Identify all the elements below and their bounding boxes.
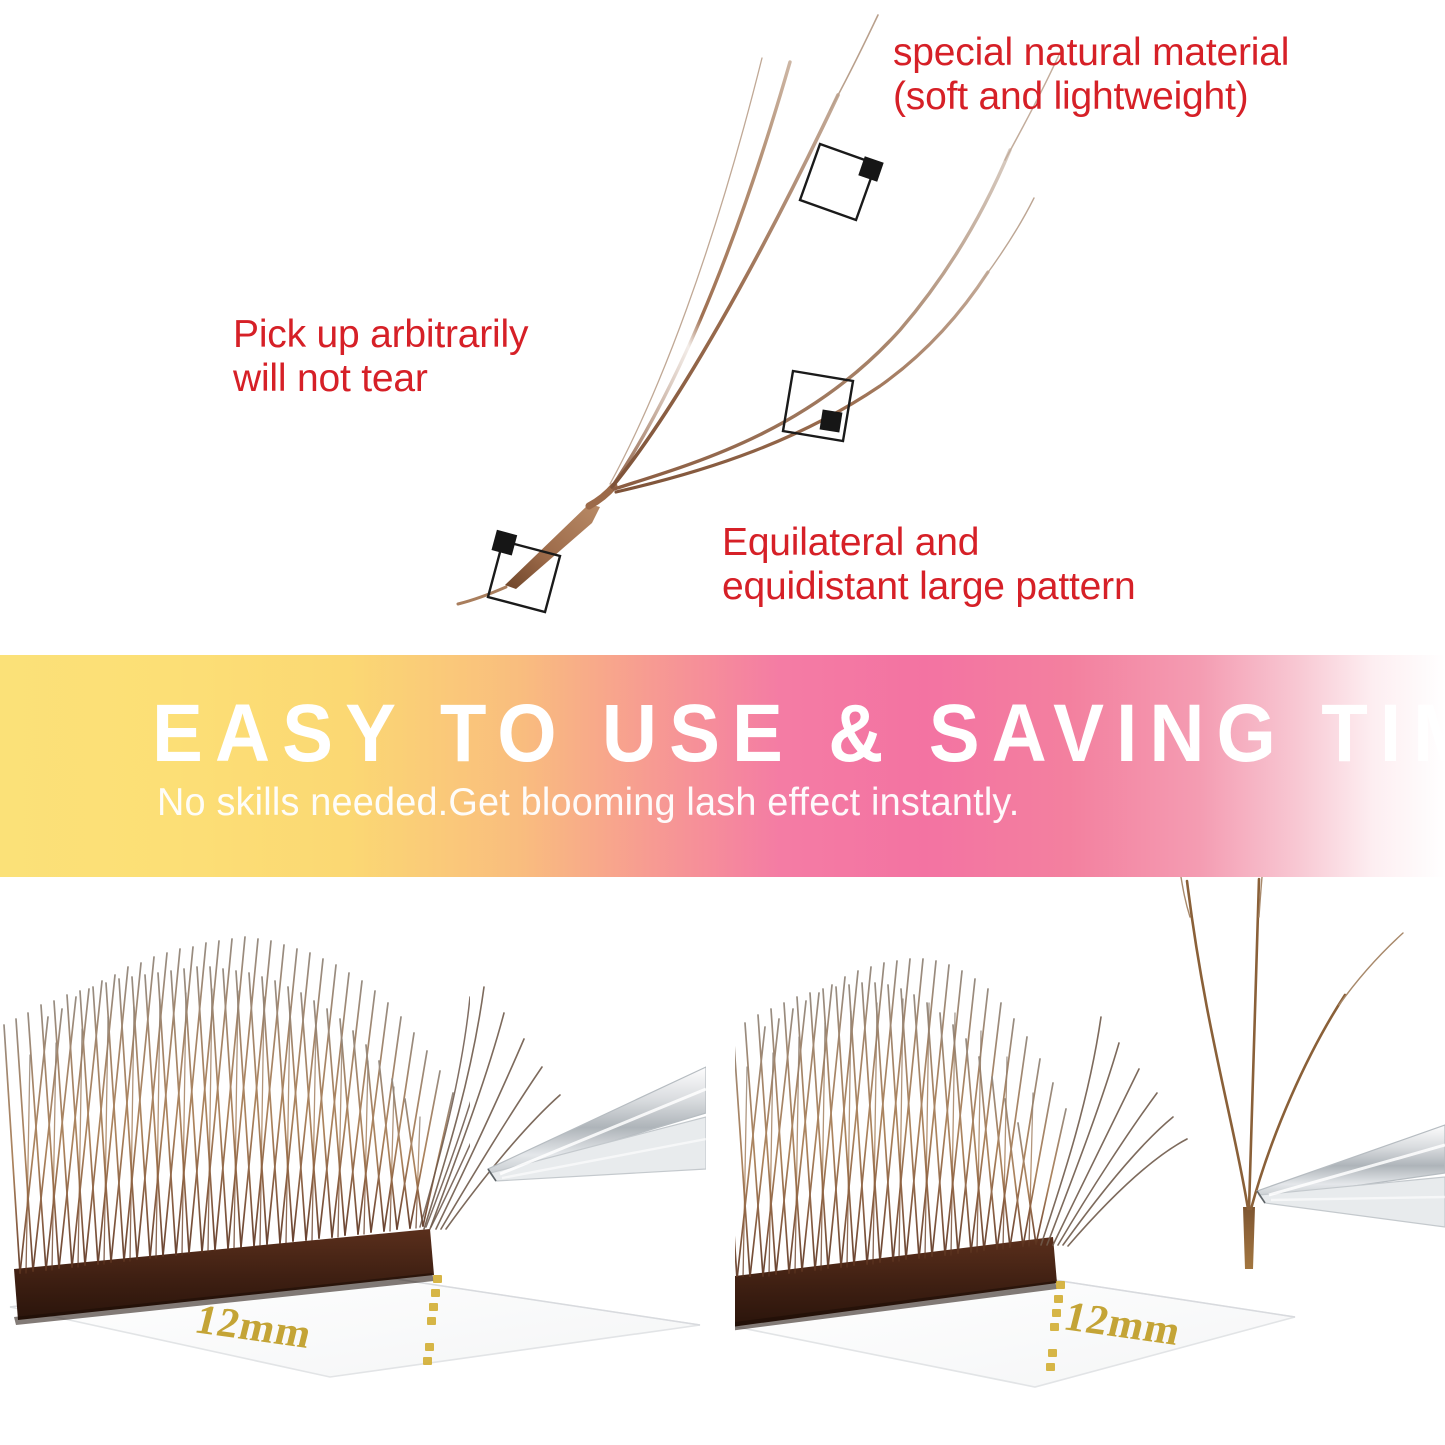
callout-pick-up-arbitrarily: Pick up arbitrarily will not tear (233, 313, 528, 402)
product-marketing-page: special natural material (soft and light… (0, 0, 1445, 1445)
photo-lash-tray-single-fan-lifted: 12mm (735, 877, 1445, 1445)
easy-to-use-banner: EASY TO USE & SAVING TIME No skills need… (0, 655, 1445, 877)
lash-base-stem (505, 486, 614, 589)
feature-callout-section: special natural material (soft and light… (0, 0, 1445, 655)
callout-equilateral-equidistant: Equilateral and equidistant large patter… (722, 521, 1135, 610)
product-photo-section: 12mm (0, 877, 1445, 1445)
banner-headline: EASY TO USE & SAVING TIME (152, 693, 1445, 775)
callout-marker-base-dot (491, 530, 517, 556)
photo-lash-tray-with-tweezers: 12mm (0, 877, 706, 1445)
banner-subtitle: No skills needed.Get blooming lash effec… (157, 783, 1019, 822)
callout-marker-upper (800, 144, 876, 220)
callout-marker-middle-dot (820, 410, 843, 433)
callout-special-natural-material: special natural material (soft and light… (893, 31, 1289, 120)
